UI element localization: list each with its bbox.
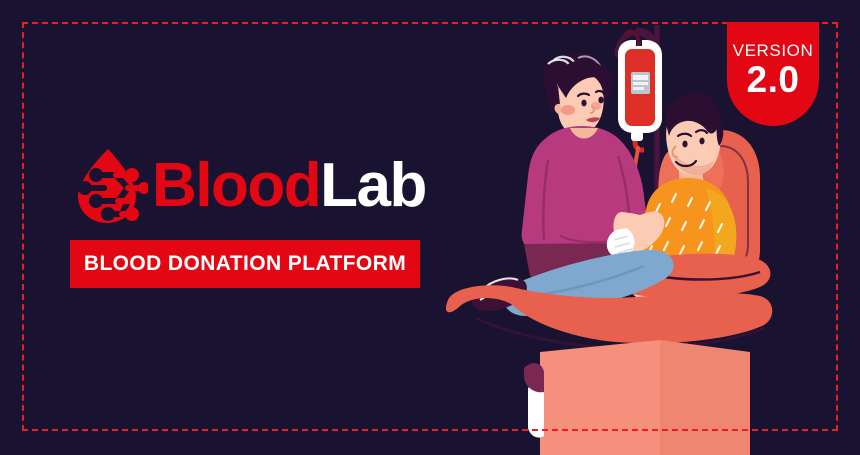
- wordmark: BloodLab: [152, 155, 426, 217]
- blood-drop-circuit-icon: [70, 146, 148, 226]
- tagline-text: BLOOD DONATION PLATFORM: [84, 252, 406, 276]
- version-badge: VERSION 2.0: [727, 22, 819, 126]
- donation-chair-seat: [446, 250, 772, 455]
- tagline-banner: BLOOD DONATION PLATFORM: [70, 240, 420, 288]
- version-number: 2.0: [747, 61, 800, 100]
- logo-row: BloodLab: [70, 140, 430, 232]
- wordmark-secondary: Lab: [320, 155, 426, 217]
- version-label: VERSION: [733, 42, 814, 59]
- wordmark-primary: Blood: [152, 155, 320, 217]
- bloodlab-banner: BloodLab BLOOD DONATION PLATFORM VERSION…: [0, 0, 860, 455]
- logo-block: BloodLab BLOOD DONATION PLATFORM: [70, 140, 430, 288]
